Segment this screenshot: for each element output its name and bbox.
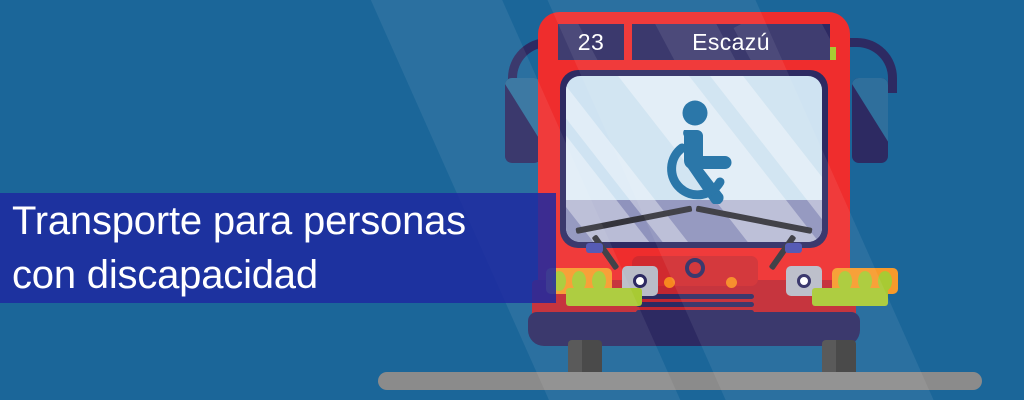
ground-bar: [378, 372, 982, 390]
route-number-box: 23: [558, 24, 624, 60]
headline-line-1: Transporte para personas: [12, 194, 556, 248]
side-mirror-right-glass: [852, 78, 888, 163]
fog-lamp-left: [566, 288, 642, 306]
grille-line: [636, 310, 754, 315]
headline-line-2: con discapacidad: [12, 248, 556, 302]
wiper-base-left: [586, 243, 603, 253]
headline-banner: Transporte para personas con discapacida…: [0, 193, 556, 303]
destination-name-text: Escazú: [692, 29, 770, 56]
route-number-text: 23: [578, 29, 604, 56]
wheelchair-accessibility-icon: [648, 100, 748, 204]
accessibility-transport-banner: 23 Escazú: [0, 0, 1024, 400]
fog-lamp-right: [812, 288, 888, 306]
grille-line: [636, 302, 754, 307]
side-mirror-left-glass: [505, 78, 541, 163]
destination-sign: 23 Escazú: [558, 24, 830, 60]
destination-name-box: Escazú: [632, 24, 830, 60]
wiper-base-right: [785, 243, 802, 253]
front-marker-dot-right: [726, 277, 737, 288]
bus-badge-icon: [685, 258, 705, 278]
front-marker-dot-left: [664, 277, 675, 288]
